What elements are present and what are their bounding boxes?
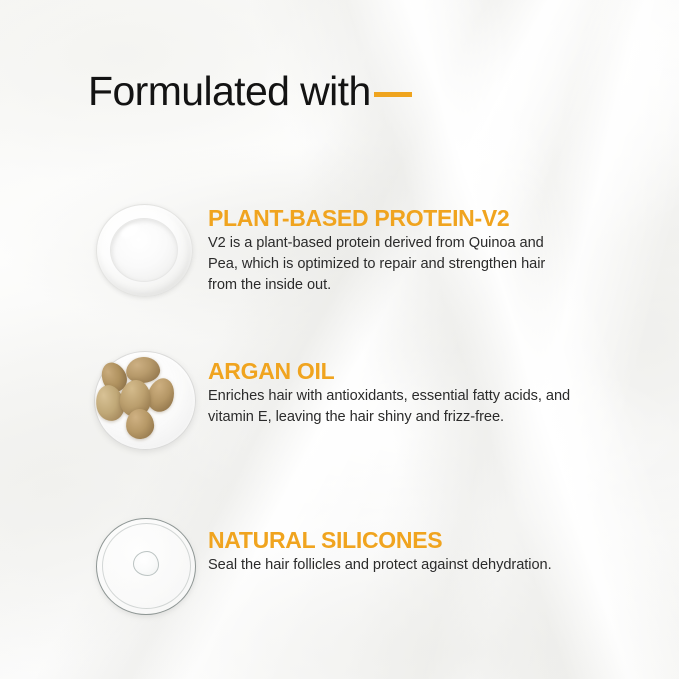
petri-dish-droplet-icon (86, 510, 204, 622)
ingredient-text-block: PLANT-BASED PROTEIN-V2 V2 is a plant-bas… (208, 196, 604, 295)
header-dash-icon (374, 92, 412, 97)
page-title: Formulated with (88, 71, 371, 112)
ingredient-row-natural-silicones: NATURAL SILICONES Seal the hair follicle… (0, 510, 679, 622)
ingredient-text-block: NATURAL SILICONES Seal the hair follicle… (208, 510, 604, 576)
argan-nuts-in-dish-icon (86, 345, 204, 457)
page-header: Formulated with (88, 71, 412, 112)
ingredient-description: V2 is a plant-based protein derived from… (208, 233, 604, 295)
ingredient-title: PLANT-BASED PROTEIN-V2 (208, 206, 604, 230)
ingredient-description: Enriches hair with antioxidants, essenti… (208, 386, 604, 427)
ingredient-title: NATURAL SILICONES (208, 528, 604, 552)
ingredient-title: ARGAN OIL (208, 359, 604, 383)
ingredient-text-block: ARGAN OIL Enriches hair with antioxidant… (208, 345, 604, 428)
bowl-inner-rim (110, 218, 178, 282)
silicone-droplet (133, 551, 159, 576)
ingredient-row-argan-oil: ARGAN OIL Enriches hair with antioxidant… (0, 345, 679, 457)
white-glass-bowl-icon (86, 196, 204, 308)
product-ingredient-infographic: Formulated with PLANT-BASED PROTEIN-V2 V… (0, 0, 679, 679)
ingredient-description: Seal the hair follicles and protect agai… (208, 555, 604, 576)
ingredient-row-plant-based-protein: PLANT-BASED PROTEIN-V2 V2 is a plant-bas… (0, 196, 679, 308)
